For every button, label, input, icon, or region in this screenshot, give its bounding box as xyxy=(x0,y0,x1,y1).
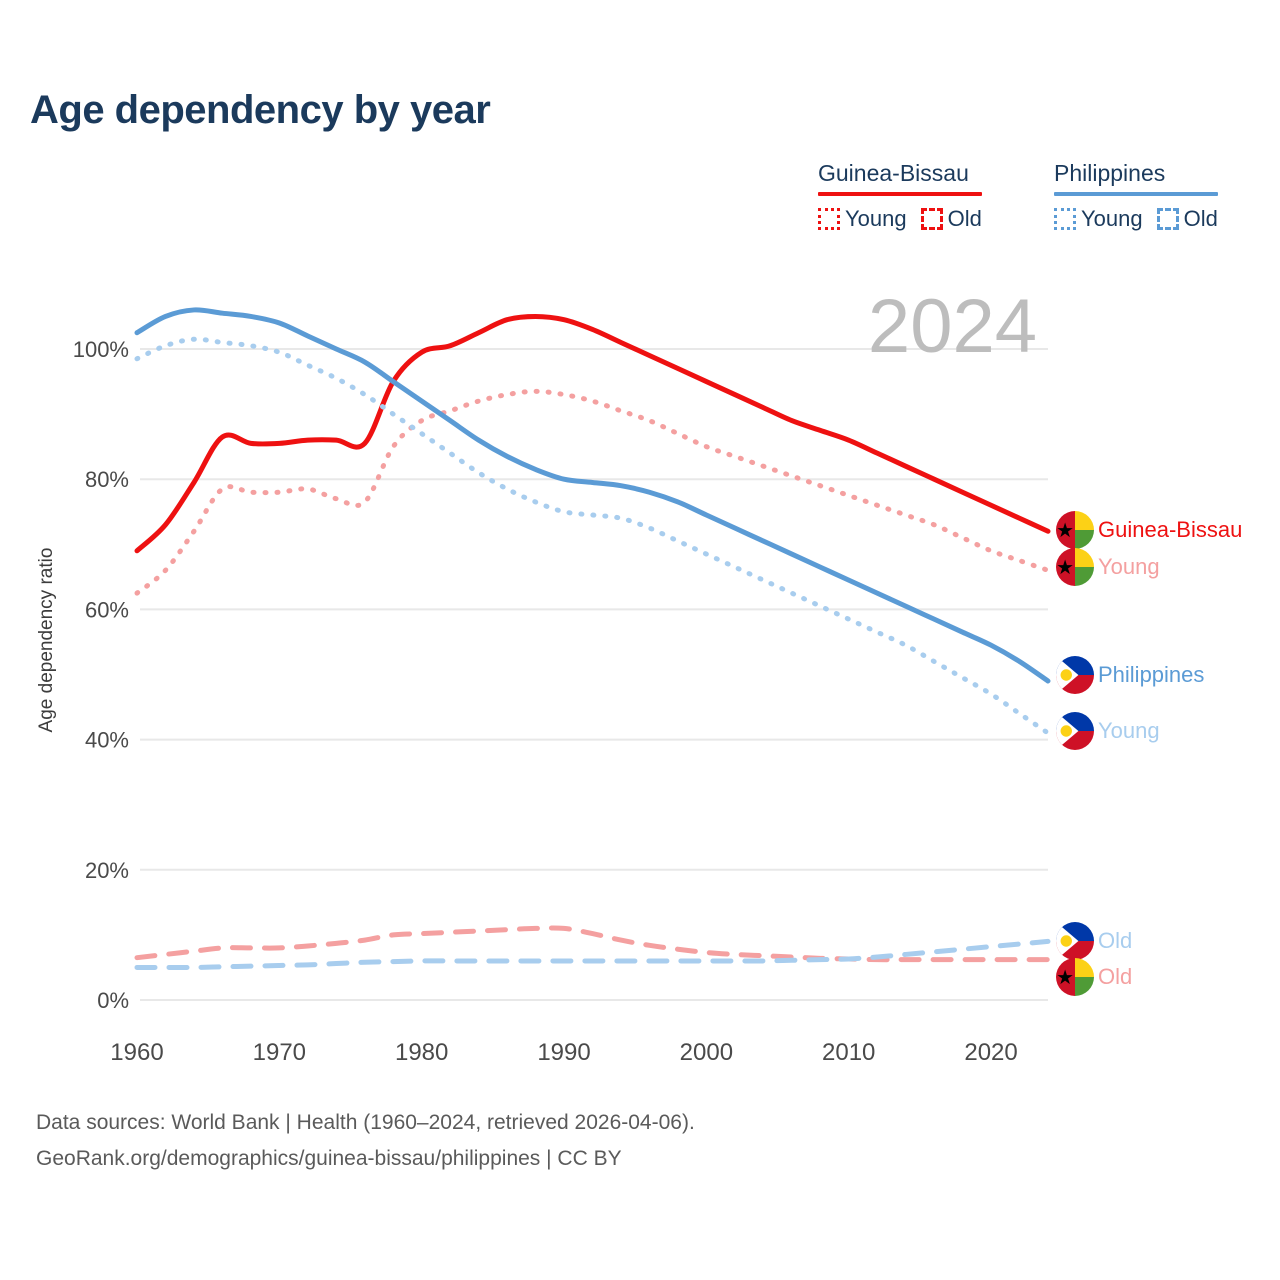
gridlines xyxy=(140,349,1048,1000)
y-tick-label: 20% xyxy=(85,858,129,883)
y-axis-title: Age dependency ratio xyxy=(36,548,57,733)
x-tick-label: 2020 xyxy=(964,1039,1017,1066)
flag-philippines-icon xyxy=(1056,922,1094,960)
y-tick-label: 0% xyxy=(97,988,129,1013)
y-tick-label: 80% xyxy=(85,467,129,492)
flag-philippines-icon xyxy=(1056,712,1094,750)
series-endpoint-label: Old xyxy=(1098,928,1132,953)
y-tick-label: 100% xyxy=(73,337,129,362)
x-tick-label: 2010 xyxy=(822,1039,875,1066)
x-tick-label: 1990 xyxy=(537,1039,590,1066)
svg-text:★: ★ xyxy=(1056,520,1074,542)
series-endpoint-label: Young xyxy=(1098,554,1160,579)
series-endpoint-label: Guinea-Bissau xyxy=(1098,517,1242,542)
series-line-philippines-old xyxy=(137,941,1048,967)
series-line-philippines-young xyxy=(137,339,1048,733)
series-endpoint-label: Philippines xyxy=(1098,662,1204,687)
svg-text:★: ★ xyxy=(1056,967,1074,989)
year-watermark: 2024 xyxy=(868,284,1037,369)
line-chart-svg: 0%20%40%60%80%100% 196019701980199020002… xyxy=(0,0,1280,1280)
chart-page: Age dependency by year Guinea-Bissau You… xyxy=(0,0,1280,1280)
x-tick-label: 2000 xyxy=(680,1039,733,1066)
footer-credits: Data sources: World Bank | Health (1960–… xyxy=(36,1105,695,1177)
svg-text:★: ★ xyxy=(1056,557,1074,579)
series-line-guinea-bissau-young xyxy=(137,391,1048,593)
flag-guinea-bissau-icon: ★ xyxy=(1056,958,1094,996)
x-tick-label: 1980 xyxy=(395,1039,448,1066)
x-tick-label: 1960 xyxy=(110,1039,163,1066)
flag-philippines-icon xyxy=(1056,656,1094,694)
series-endpoint-label: Old xyxy=(1098,964,1132,989)
x-tick-label: 1970 xyxy=(253,1039,306,1066)
series-endpoint-labels: ★Guinea-Bissau★YoungPhilippinesYoungOld★… xyxy=(1056,511,1242,996)
flag-guinea-bissau-icon: ★ xyxy=(1056,511,1094,549)
y-axis-ticks: 0%20%40%60%80%100% xyxy=(73,337,129,1013)
plot-area: 0%20%40%60%80%100% 196019701980199020002… xyxy=(0,0,1280,1280)
x-axis-ticks: 1960197019801990200020102020 xyxy=(110,1039,1017,1066)
y-tick-label: 60% xyxy=(85,597,129,622)
flag-guinea-bissau-icon: ★ xyxy=(1056,548,1094,586)
series-endpoint-label: Young xyxy=(1098,718,1160,743)
footer-line-url[interactable]: GeoRank.org/demographics/guinea-bissau/p… xyxy=(36,1141,695,1177)
footer-line-sources: Data sources: World Bank | Health (1960–… xyxy=(36,1105,695,1141)
y-tick-label: 40% xyxy=(85,728,129,753)
